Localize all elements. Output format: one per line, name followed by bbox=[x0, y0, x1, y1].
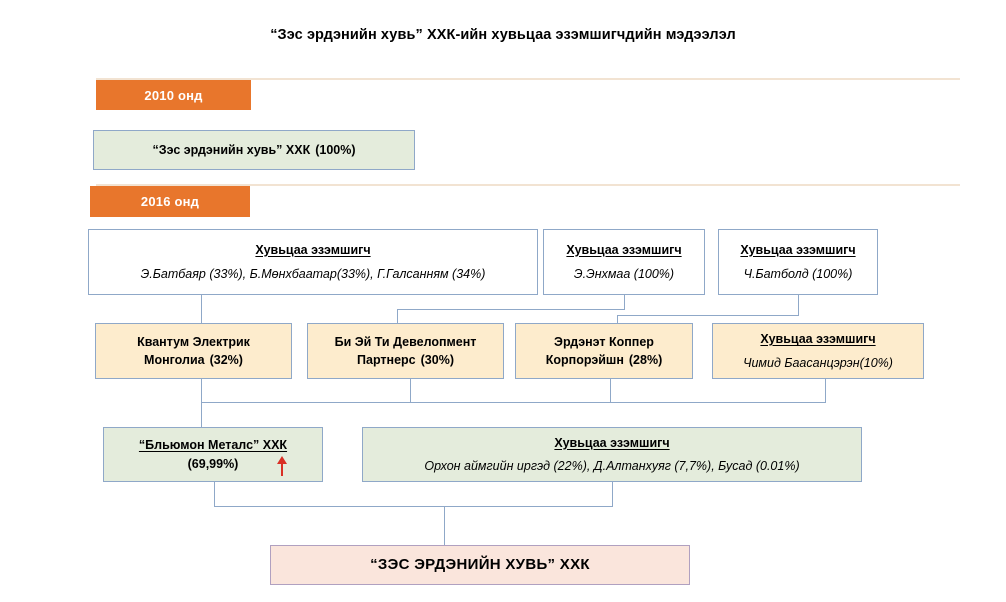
node-shareholder-chimid: Хувьцаа эзэмшигч Чимид Баасанцэрэн(10%) bbox=[712, 323, 924, 379]
up-arrow-icon bbox=[276, 455, 288, 477]
node-names: Ч.Батболд (100%) bbox=[744, 266, 853, 283]
node-company-percent: (69,99%) bbox=[188, 456, 239, 473]
year-chip-2016: 2016 онд bbox=[90, 186, 250, 217]
connector-erdenet-down bbox=[610, 379, 611, 402]
connector-r1b-bus bbox=[397, 309, 625, 310]
connector-chimid-down bbox=[825, 379, 826, 402]
node-shareholders-quantum: Хувьцаа эзэмшигч Э.Батбаяр (33%), Б.Мөнх… bbox=[88, 229, 538, 295]
node-erdenet-copper-corporation: Эрдэнэт Коппер Корпорэйшн (28%) bbox=[515, 323, 693, 379]
node-shareholders-bat: Хувьцаа эзэмшигч Э.Энхмаа (100%) bbox=[543, 229, 705, 295]
node-heading: Хувьцаа эзэмшигч bbox=[760, 331, 875, 348]
node-zes-erdenii-huv-2010: “Зэс эрдэнийн хувь” ХХК (100%) bbox=[93, 130, 415, 170]
node-company-name: “Бльюмон Металс” ХХК bbox=[139, 437, 287, 454]
node-heading: Хувьцаа эзэмшигч bbox=[566, 242, 681, 259]
page-title: “Зэс эрдэнийн хувь” ХХК-ийн хувьцаа эзэм… bbox=[0, 27, 1006, 43]
connector-bat-down bbox=[410, 379, 411, 402]
connector-row2-bus bbox=[201, 402, 826, 403]
node-shareholders-orhon: Хувьцаа эзэмшигч Орхон аймгийн иргэд (22… bbox=[362, 427, 862, 482]
connector-row3-bus bbox=[214, 506, 613, 507]
node-names: Чимид Баасанцэрэн(10%) bbox=[743, 355, 893, 372]
connector-r1a-to-quantum bbox=[201, 295, 202, 323]
connector-blumon-down bbox=[214, 482, 215, 506]
org-chart-canvas: “Зэс эрдэнийн хувь” ХХК-ийн хувьцаа эзэм… bbox=[0, 0, 1006, 602]
node-names: Э.Энхмаа (100%) bbox=[574, 266, 674, 283]
node-company-line1: Эрдэнэт Коппер bbox=[554, 334, 654, 351]
connector-r1c-bus bbox=[617, 315, 799, 316]
node-heading: Хувьцаа эзэмшигч bbox=[554, 435, 669, 452]
connector-bus-to-root bbox=[444, 506, 445, 545]
node-company-line2: Партнерс bbox=[357, 352, 416, 369]
node-company-percent: (100%) bbox=[315, 142, 355, 159]
connector-r1c-down bbox=[798, 295, 799, 315]
node-company-percent: (28%) bbox=[629, 352, 662, 369]
node-heading: Хувьцаа эзэмшигч bbox=[740, 242, 855, 259]
node-company-percent: (32%) bbox=[210, 352, 243, 369]
node-bat-development-partners: Би Эй Ти Девелопмент Партнерс (30%) bbox=[307, 323, 504, 379]
node-company-line1: Би Эй Ти Девелопмент bbox=[335, 334, 477, 351]
node-blumon-metals: “Бльюмон Металс” ХХК (69,99%) bbox=[103, 427, 323, 482]
node-names: Орхон аймгийн иргэд (22%), Д.Алтанхуяг (… bbox=[424, 458, 799, 475]
node-company-name: “Зэс эрдэнийн хувь” ХХК bbox=[153, 142, 311, 159]
connector-orhon-down bbox=[612, 482, 613, 506]
node-company-percent: (30%) bbox=[421, 352, 454, 369]
connector-r1b-down bbox=[624, 295, 625, 309]
node-company-line2: Монголиа bbox=[144, 352, 205, 369]
node-company-name: “ЗЭС ЭРДЭНИЙН ХУВЬ” ХХК bbox=[370, 555, 590, 575]
node-names: Э.Батбаяр (33%), Б.Мөнхбаатар(33%), Г.Га… bbox=[141, 266, 486, 283]
node-company-line2: Корпорэйшн bbox=[546, 352, 624, 369]
connector-quantum-to-blumon bbox=[201, 379, 202, 427]
connector-r1c-to-erdenet bbox=[617, 315, 618, 323]
node-root-zes-erdenii-huv: “ЗЭС ЭРДЭНИЙН ХУВЬ” ХХК bbox=[270, 545, 690, 585]
node-shareholders-erdenet: Хувьцаа эзэмшигч Ч.Батболд (100%) bbox=[718, 229, 878, 295]
node-heading: Хувьцаа эзэмшигч bbox=[255, 242, 370, 259]
node-quantum-electric-mongolia: Квантум Электрик Монголиа (32%) bbox=[95, 323, 292, 379]
year-chip-2010: 2010 онд bbox=[96, 80, 251, 110]
node-company-line1: Квантум Электрик bbox=[137, 334, 250, 351]
connector-r1b-to-bat bbox=[397, 309, 398, 323]
